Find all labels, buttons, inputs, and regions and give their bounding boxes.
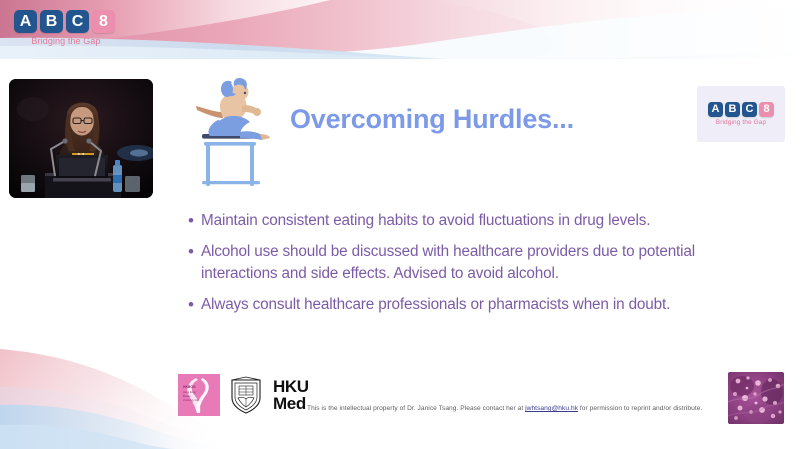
hku-wordmark-line2: Med [273, 395, 309, 412]
bullet-text: Alcohol use should be discussed with hea… [201, 241, 768, 285]
svg-text:Breast: Breast [183, 394, 191, 398]
svg-text:Oncology Grp: Oncology Grp [183, 398, 200, 402]
copyright-note-suffix: for permission to reprint and/or distrib… [578, 405, 702, 412]
bullet-marker-icon: • [188, 294, 201, 316]
logo-block-c: C [66, 10, 89, 33]
hurdle-jumper-graphic [188, 76, 278, 188]
histology-thumbnail [728, 372, 784, 424]
speaker-video-frame [9, 79, 153, 198]
slide-canvas: A B C 8 Bridging the Gap [0, 0, 800, 449]
bullet-list: • Maintain consistent eating habits to a… [188, 210, 768, 325]
list-item: • Always consult healthcare professional… [188, 294, 768, 316]
svg-text:Hong Kong: Hong Kong [183, 390, 197, 394]
copyright-note-prefix: This is the intellectual property of Dr.… [307, 405, 525, 412]
brand-logo-badge: A B C 8 Bridging the Gap [697, 86, 785, 142]
pink-ribbon-logo: HKBOG Hong Kong Breast Oncology Grp [178, 374, 220, 416]
footer-logo-group: HKBOG Hong Kong Breast Oncology Grp HKU … [178, 374, 309, 416]
ribbon-icon: HKBOG Hong Kong Breast Oncology Grp [178, 374, 220, 416]
list-item: • Alcohol use should be discussed with h… [188, 241, 768, 285]
hku-crest-icon [229, 376, 263, 414]
badge-block-8: 8 [759, 102, 774, 117]
hku-wordmark-line1: HKU [273, 378, 309, 395]
histology-image [728, 372, 784, 424]
badge-block-c: C [742, 102, 757, 117]
hku-med-wordmark: HKU Med [273, 378, 309, 412]
bullet-marker-icon: • [188, 210, 201, 232]
contact-email-link[interactable]: jwhtsang@hku.hk [525, 405, 578, 412]
logo-block-a: A [14, 10, 37, 33]
badge-block-a: A [708, 102, 723, 117]
logo-letter-blocks: A B C 8 [14, 10, 126, 33]
list-item: • Maintain consistent eating habits to a… [188, 210, 768, 232]
brand-tagline: Bridging the Gap [14, 36, 118, 46]
bullet-text: Maintain consistent eating habits to avo… [201, 210, 650, 232]
badge-letter-blocks: A B C 8 [708, 102, 774, 117]
logo-block-8: 8 [92, 10, 115, 33]
speaker-video-panel[interactable] [9, 79, 153, 198]
bullet-text: Always consult healthcare professionals … [201, 294, 670, 316]
hurdle-illustration [188, 76, 278, 188]
badge-block-b: B [725, 102, 740, 117]
brand-logo-primary: A B C 8 Bridging the Gap [14, 10, 126, 46]
svg-text:HKBOG: HKBOG [183, 385, 196, 389]
page-title: Overcoming Hurdles... [290, 104, 680, 135]
copyright-note: This is the intellectual property of Dr.… [307, 405, 702, 412]
logo-block-b: B [40, 10, 63, 33]
badge-tagline: Bridging the Gap [706, 119, 776, 126]
bullet-marker-icon: • [188, 241, 201, 263]
